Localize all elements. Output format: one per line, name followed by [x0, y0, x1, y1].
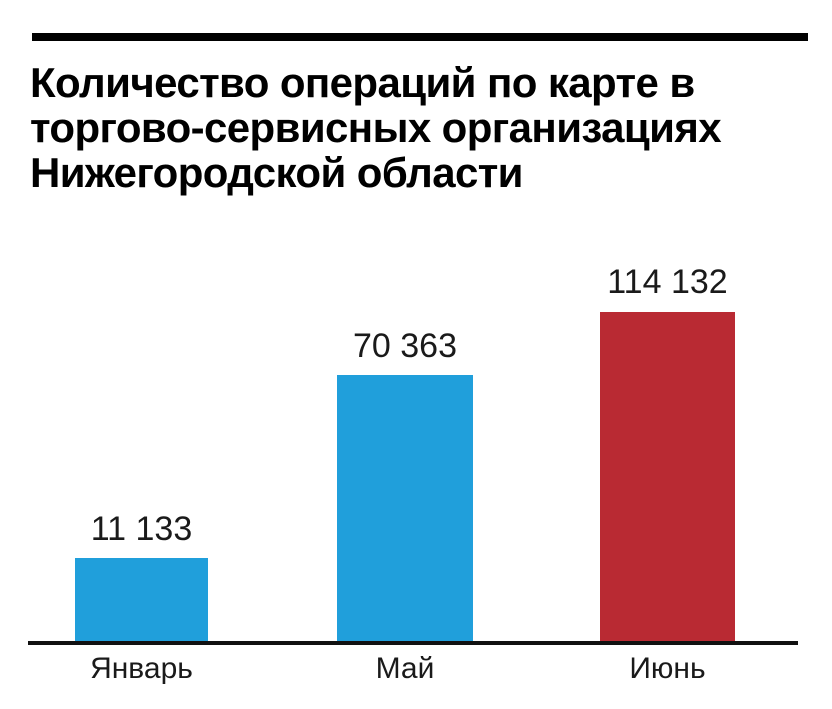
bar-1: [75, 558, 208, 642]
category-label-1: Январь: [75, 652, 208, 686]
plot-area: 11 13370 363114 132 ЯнварьМайИюнь: [0, 0, 832, 709]
bar-2: [337, 375, 473, 642]
bar-value-label-1: 11 133: [75, 512, 208, 546]
bar-value-label-3: 114 132: [600, 265, 735, 299]
category-label-2: Май: [337, 652, 473, 686]
category-label-3: Июнь: [600, 652, 735, 686]
bar-value-label-2: 70 363: [337, 329, 473, 363]
chart-page: Количество операций по карте в торгово-с…: [0, 0, 832, 709]
x-axis-line: [28, 641, 798, 645]
bar-3: [600, 312, 735, 642]
